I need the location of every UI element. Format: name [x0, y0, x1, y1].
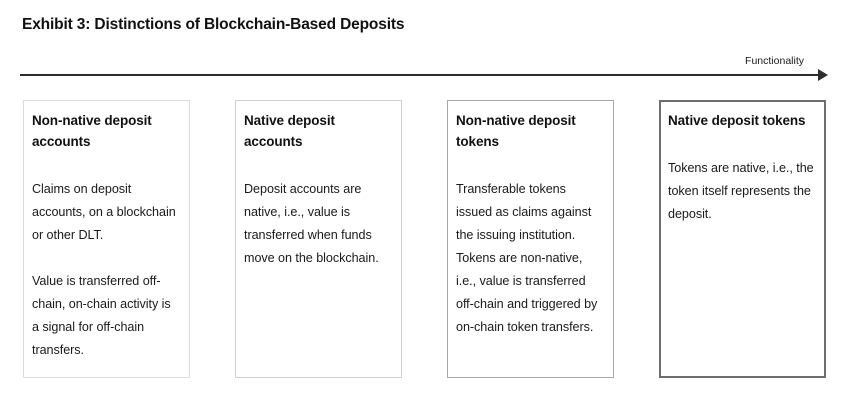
axis-label-functionality: Functionality — [745, 55, 804, 67]
concept-box-paragraph: Value is transferred off-chain, on-chain… — [32, 270, 181, 362]
concept-box-body: Claims on deposit accounts, on a blockch… — [32, 152, 181, 362]
arrow-right-icon — [818, 69, 828, 81]
concept-box-paragraph: Transferable tokens issued as claims aga… — [456, 178, 605, 339]
concept-box-paragraph: Deposit accounts are native, i.e., value… — [244, 178, 393, 270]
concept-box-heading: Non-native deposit accounts — [32, 110, 181, 152]
concept-box-body: Deposit accounts are native, i.e., value… — [244, 152, 393, 270]
concept-box-body: Transferable tokens issued as claims aga… — [456, 152, 605, 339]
concept-box-paragraph: Tokens are native, i.e., the token itsel… — [668, 157, 817, 226]
page-title: Exhibit 3: Distinctions of Blockchain-Ba… — [22, 16, 404, 34]
concept-box-body: Tokens are native, i.e., the token itsel… — [668, 131, 817, 226]
concept-box-heading: Native deposit accounts — [244, 110, 393, 152]
functionality-axis: Functionality — [0, 55, 848, 85]
concept-box-non-native-deposit-accounts[interactable]: Non-native deposit accounts Claims on de… — [23, 100, 190, 378]
concept-box-heading: Native deposit tokens — [668, 110, 817, 131]
concept-box-paragraph: Claims on deposit accounts, on a blockch… — [32, 178, 181, 247]
axis-line — [20, 74, 822, 76]
concept-boxes-row: Non-native deposit accounts Claims on de… — [23, 100, 828, 378]
concept-box-native-deposit-accounts[interactable]: Native deposit accounts Deposit accounts… — [235, 100, 402, 378]
concept-box-heading: Non-native deposit tokens — [456, 110, 605, 152]
concept-box-non-native-deposit-tokens[interactable]: Non-native deposit tokens Transferable t… — [447, 100, 614, 378]
concept-box-native-deposit-tokens[interactable]: Native deposit tokens Tokens are native,… — [659, 100, 826, 378]
